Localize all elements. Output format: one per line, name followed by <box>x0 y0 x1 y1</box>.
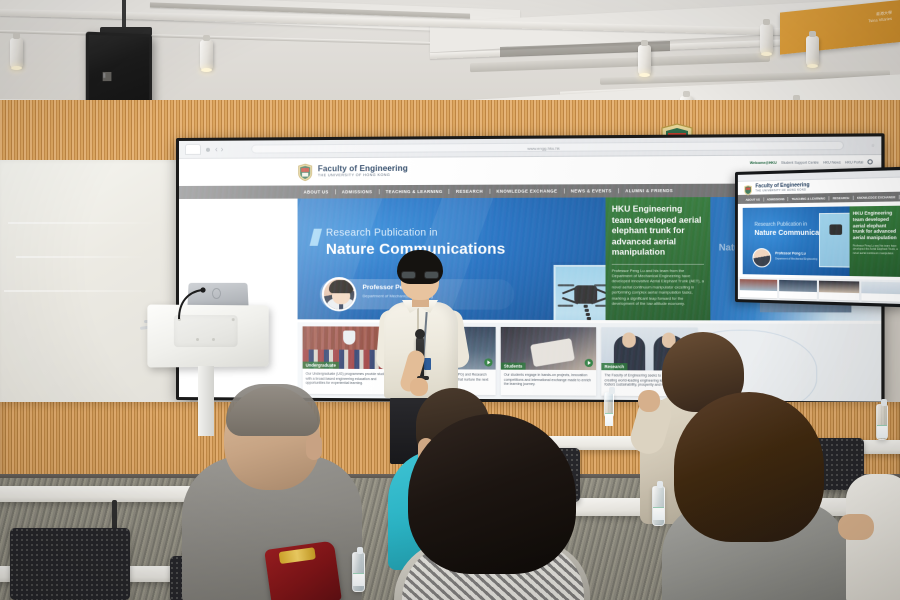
utility-link[interactable]: HKU Portal <box>845 160 863 164</box>
secondary-card[interactable] <box>861 282 900 302</box>
site-brand: Faculty of Engineering THE UNIVERSITY OF… <box>318 165 408 179</box>
secondary-feature-panel: HKU Engineering team developed aerial el… <box>850 206 900 277</box>
spotlight <box>760 24 773 54</box>
audience-member-white-shirt <box>846 452 900 600</box>
nav-item-news-events[interactable]: NEWS & EVENTS <box>565 188 619 193</box>
brand-secondary: THE UNIVERSITY OF HONG KONG <box>318 174 408 178</box>
secondary-nav-item[interactable]: KNOWLEDGE EXCHANGE <box>854 194 900 199</box>
divider <box>612 263 704 264</box>
nav-item-teaching-learning[interactable]: TEACHING & LEARNING <box>379 189 449 194</box>
feature-panel-body: Professor Peng Lu and his team from the … <box>612 268 704 307</box>
browser-nav-arrows[interactable]: ‹› <box>215 145 226 154</box>
play-icon[interactable] <box>585 359 593 367</box>
secondary-nav-item[interactable]: ADMISSIONS <box>764 196 789 201</box>
card-text: Our students engage in hands-on projects… <box>501 370 596 391</box>
nav-item-alumni-friends[interactable]: ALUMNI & FRIENDS <box>619 188 679 193</box>
utility-link[interactable]: Student Support Centre <box>781 160 819 164</box>
play-icon[interactable] <box>484 358 492 366</box>
spotlight <box>10 38 23 68</box>
hku-shield-icon <box>298 163 313 181</box>
utility-nav[interactable]: Welcome@HKU Student Support Centre HKU N… <box>750 159 873 165</box>
feature-panel-title: HKU Engineering team developed aerial el… <box>612 204 704 258</box>
audience-member-grey-tee <box>648 392 858 600</box>
ear <box>306 434 322 460</box>
secondary-navigation[interactable]: ABOUT US ADMISSIONS TEACHING & LEARNING … <box>738 192 900 204</box>
secondary-card[interactable] <box>740 279 777 298</box>
hero-kicker: Research Publication in <box>326 227 438 238</box>
presenter-badge <box>424 358 431 370</box>
card-tag: Undergraduate <box>303 362 339 369</box>
browser-tab[interactable] <box>185 144 201 155</box>
card-image: Students <box>501 327 596 370</box>
chair <box>10 528 130 600</box>
display-mount-stem <box>122 0 126 30</box>
gooseneck-microphone <box>176 286 222 320</box>
red-gift-bag <box>264 540 342 600</box>
nav-item-knowledge-exchange[interactable]: KNOWLEDGE EXCHANGE <box>490 188 564 193</box>
hku-shield-icon <box>744 183 753 194</box>
water-bottle <box>876 404 888 440</box>
secondary-card[interactable] <box>779 280 817 299</box>
water-bottle <box>352 552 365 592</box>
hand <box>838 514 874 540</box>
professor-avatar <box>322 277 357 311</box>
secondary-professor-avatar <box>752 248 771 267</box>
feature-panel[interactable]: HKU Engineering team developed aerial el… <box>606 197 711 320</box>
display-logo-icon: ▮ <box>103 72 112 81</box>
light-track <box>0 30 430 45</box>
secondary-panel-body: Professor Peng Lu and his team have deve… <box>853 244 899 255</box>
banner-text: 香港大學 Tsina Vitaries <box>868 10 892 24</box>
nav-item-admissions[interactable]: ADMISSIONS <box>336 189 380 194</box>
nav-item-research[interactable]: RESEARCH <box>450 189 490 194</box>
secondary-nav-item[interactable]: ABOUT US <box>743 197 764 201</box>
secondary-professor-department: Department of Mechanical Engineering <box>775 257 817 261</box>
secondary-hero-kicker: Research Publication in <box>754 221 807 227</box>
aerial-elephant-trunk-image <box>554 265 606 320</box>
utility-link[interactable]: HKU News <box>823 160 841 164</box>
spotlight <box>638 45 651 75</box>
secondary-brand-secondary: THE UNIVERSITY OF HONG KONG <box>755 188 809 192</box>
hair <box>226 384 320 436</box>
search-icon[interactable] <box>867 159 872 164</box>
secondary-display: Faculty of Engineering THE UNIVERSITY OF… <box>735 167 900 308</box>
secondary-drone-image <box>819 213 851 268</box>
audience-member-dark-hair-front <box>384 414 600 600</box>
card-tag: Students <box>501 363 526 370</box>
water-bottle <box>604 392 614 418</box>
secondary-panel-title: HKU Engineering team developed aerial el… <box>853 210 899 241</box>
brand-primary: Faculty of Engineering <box>318 165 408 174</box>
secondary-hero: Research Publication in Nature Communica… <box>743 206 851 276</box>
spotlight <box>200 40 213 70</box>
presenter-hand <box>410 378 428 396</box>
utility-welcome[interactable]: Welcome@HKU <box>750 160 777 164</box>
secondary-nav-item[interactable]: RESEARCH <box>830 195 854 200</box>
news-card[interactable]: Students Our students engage in hands-on… <box>501 327 596 396</box>
water-bottle <box>652 486 665 526</box>
presenter-glasses <box>401 271 439 279</box>
lecture-room-scene: 香港大學 Tsina Vitaries ▮ <box>0 0 900 600</box>
nav-item-about-us[interactable]: ABOUT US <box>298 189 336 194</box>
spotlight <box>806 36 819 66</box>
browser-menu-icon[interactable] <box>206 147 210 151</box>
secondary-professor-name: Professor Peng Lu <box>775 251 806 255</box>
browser-bookmark-icon[interactable]: ☆ <box>871 143 875 148</box>
secondary-card[interactable] <box>819 281 859 301</box>
secondary-display-screen[interactable]: Faculty of Engineering THE UNIVERSITY OF… <box>738 170 900 304</box>
address-bar[interactable]: www.engg.hku.hk <box>252 141 845 154</box>
card-tag: Research <box>601 363 627 370</box>
secondary-nav-item[interactable]: TEACHING & LEARNING <box>789 196 830 201</box>
